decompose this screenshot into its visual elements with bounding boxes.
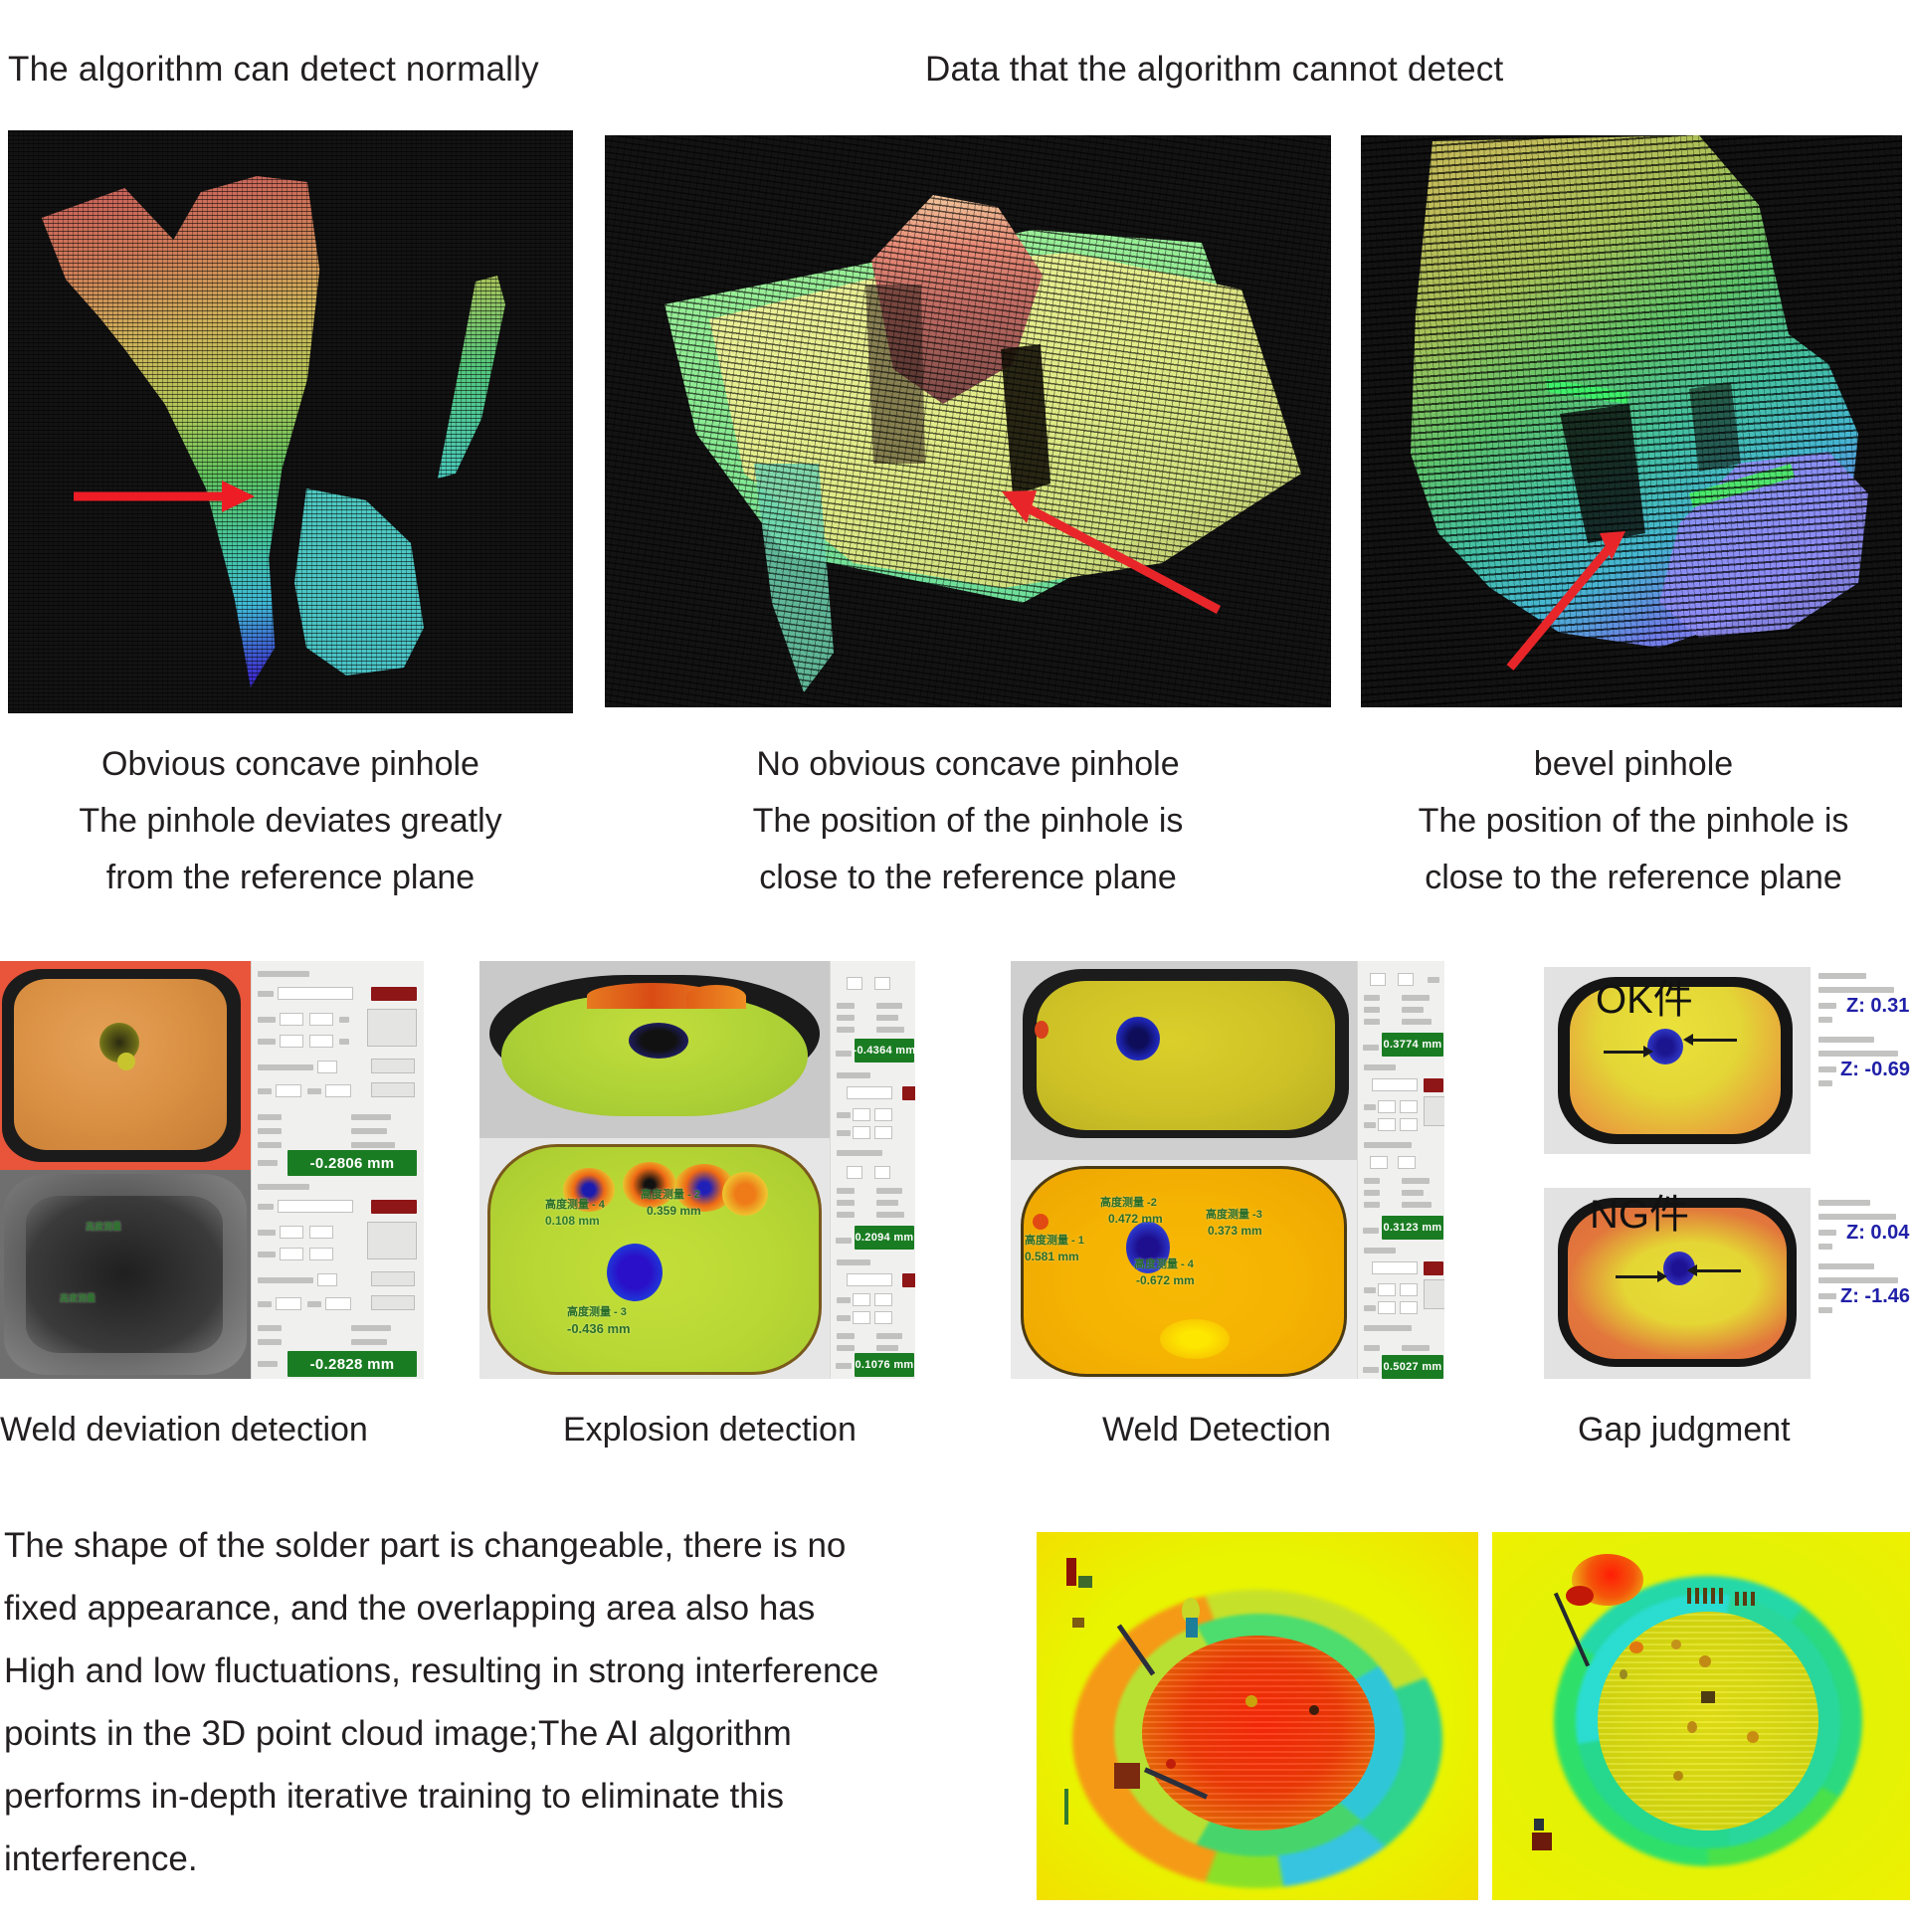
ui-button-1a[interactable]	[367, 1009, 417, 1047]
slide-root: The algorithm can detect normally Data t…	[0, 0, 1910, 1932]
paragraph-line: performs in-depth iterative training to …	[4, 1765, 959, 1828]
measurement-value-1: -0.2806 mm	[287, 1150, 417, 1176]
status-badge-ng-1	[371, 987, 417, 1001]
panel-explosion-detection: 高度测量 - 4 0.108 mm 高度测量 - 2 0.359 mm 高度测量…	[479, 961, 915, 1379]
measurement-value-2: -0.2828 mm	[287, 1351, 417, 1377]
ui-button-3a[interactable]	[1424, 1096, 1444, 1126]
status-badge-ng-2	[371, 1200, 417, 1214]
caption-line: from the reference plane	[8, 850, 573, 906]
pointcloud-bevel-pinhole	[1361, 135, 1902, 707]
measurement-value-6: 0.3774 mm	[1382, 1033, 1443, 1057]
overlay-annotation: 0.581 mm	[1025, 1250, 1079, 1263]
panel-label-explosion-detection: Explosion detection	[563, 1411, 857, 1449]
ui-button-1d[interactable]	[367, 1222, 417, 1259]
overlay-annotation: 高度测量 - 1	[1025, 1232, 1084, 1248]
caption-line: The pinhole deviates greatly	[8, 793, 573, 850]
caption-line: The position of the pinhole is	[605, 793, 1331, 850]
panel-label-weld-detection: Weld Detection	[1102, 1411, 1331, 1449]
red-arrow-icon-1	[8, 130, 573, 713]
z-value: Z: -1.466	[1840, 1285, 1910, 1308]
ui-button-3b[interactable]	[1424, 1279, 1444, 1309]
measurement-value-5: 0.1076 mm	[855, 1353, 914, 1377]
inspection-ui-pane-1: -0.2806 mm -0.2828	[251, 961, 424, 1379]
header-right: Data that the algorithm cannot detect	[925, 50, 1503, 90]
measurement-value-8: 0.5027 mm	[1382, 1355, 1443, 1379]
caption-line: close to the reference plane	[605, 850, 1331, 906]
panel-label-weld-deviation-detection: Weld deviation detection	[0, 1411, 368, 1449]
caption-pointcloud-1: Obvious concave pinhole The pinhole devi…	[8, 736, 573, 906]
red-arrow-icon-2	[605, 135, 1331, 707]
inspection-ui-pane-3: 0.3774 mm 0.3123 mm	[1357, 961, 1444, 1379]
status-badge-ng-6	[1424, 1261, 1443, 1275]
caption-line: No obvious concave pinhole	[605, 736, 1331, 793]
red-arrow-icon-3	[1361, 135, 1902, 707]
caption-pointcloud-3: bevel pinhole The position of the pinhol…	[1361, 736, 1906, 906]
panel-gap-judgment: OK件 Z: 0.317 Z: -0.690 NG件	[1492, 961, 1910, 1379]
overlay-annotation: 高度测量 - 3	[567, 1303, 627, 1319]
sample-photo-3d-side	[479, 961, 830, 1138]
paragraph-line: interference.	[4, 1828, 959, 1890]
status-badge-ng-5	[1424, 1078, 1443, 1092]
overlay-annotation: 0.373 mm	[1208, 1224, 1262, 1238]
status-badge-ng-4	[902, 1273, 915, 1287]
caption-line: close to the reference plane	[1361, 850, 1906, 906]
paragraph-line: High and low fluctuations, resulting in …	[4, 1640, 959, 1702]
sample-photo-color	[0, 961, 251, 1170]
caption-line: Obvious concave pinhole	[8, 736, 573, 793]
paragraph-line: fixed appearance, and the overlapping ar…	[4, 1577, 959, 1640]
header-left: The algorithm can detect normally	[8, 50, 539, 90]
panel-weld-detection: 高度测量 -2 0.472 mm 高度测量 -3 0.373 mm 高度测量 -…	[1011, 961, 1444, 1379]
ui-button-1b[interactable]	[371, 1059, 415, 1073]
verdict-ng: NG件	[1590, 1182, 1689, 1240]
measurement-value-7: 0.3123 mm	[1382, 1216, 1443, 1240]
inspection-ui-pane-2: -0.4364 mm 0.2094 mm	[830, 961, 915, 1379]
sample-photo-heightmap: 高度测量 - 4 0.108 mm 高度测量 - 2 0.359 mm 高度测量…	[479, 1138, 830, 1379]
overlay-annotation: -0.672 mm	[1136, 1273, 1195, 1287]
panel-weld-deviation-detection: 高度测量 高度测量	[0, 961, 424, 1379]
caption-pointcloud-2: No obvious concave pinhole The position …	[605, 736, 1331, 906]
overlay-annotation: -0.436 mm	[567, 1321, 631, 1336]
paragraph-line: points in the 3D point cloud image;The A…	[4, 1702, 959, 1765]
z-value: Z: 0.047	[1846, 1222, 1910, 1245]
overlay-annotation: 高度测量	[86, 1220, 121, 1233]
pointcloud-obvious-concave-pinhole	[8, 130, 573, 713]
solder-heightmap-yellow-center	[1492, 1532, 1910, 1900]
ui-button-1c[interactable]	[371, 1082, 415, 1097]
caption-line: bevel pinhole	[1361, 736, 1906, 793]
overlay-annotation: 高度测量 - 4	[545, 1196, 605, 1212]
overlay-annotation: 高度测量 - 2	[641, 1186, 700, 1202]
paragraph-line: The shape of the solder part is changeab…	[4, 1514, 959, 1577]
z-value: Z: -0.690	[1840, 1059, 1910, 1081]
solder-heightmap-red-center	[1037, 1532, 1478, 1900]
overlay-annotation: 高度测量 - 4	[1134, 1256, 1194, 1271]
measurement-value-3: -0.4364 mm	[855, 1039, 914, 1063]
overlay-annotation: 0.108 mm	[545, 1214, 600, 1228]
overlay-annotation: 0.472 mm	[1108, 1212, 1163, 1226]
z-value: Z: 0.317	[1846, 995, 1910, 1018]
overlay-annotation: 高度测量	[60, 1291, 95, 1304]
ui-button-1f[interactable]	[371, 1295, 415, 1310]
bottom-paragraph: The shape of the solder part is changeab…	[4, 1514, 959, 1890]
pointcloud-no-obvious-concave-pinhole	[605, 135, 1331, 707]
caption-line: The position of the pinhole is	[1361, 793, 1906, 850]
sample-photo-gray: 高度测量 高度测量	[0, 1170, 251, 1379]
measurement-value-4: 0.2094 mm	[855, 1226, 914, 1250]
overlay-annotation: 高度测量 -3	[1206, 1206, 1262, 1222]
sample-photo-3d-side	[1011, 961, 1357, 1160]
sample-photo-heightmap: 高度测量 -2 0.472 mm 高度测量 -3 0.373 mm 高度测量 -…	[1011, 1160, 1357, 1379]
overlay-annotation: 0.359 mm	[647, 1204, 701, 1218]
ui-button-1e[interactable]	[371, 1271, 415, 1286]
panel-label-gap-judgment: Gap judgment	[1578, 1411, 1791, 1449]
status-badge-ng-3	[902, 1086, 915, 1100]
verdict-ok: OK件	[1596, 967, 1693, 1025]
overlay-annotation: 高度测量 -2	[1100, 1194, 1157, 1210]
